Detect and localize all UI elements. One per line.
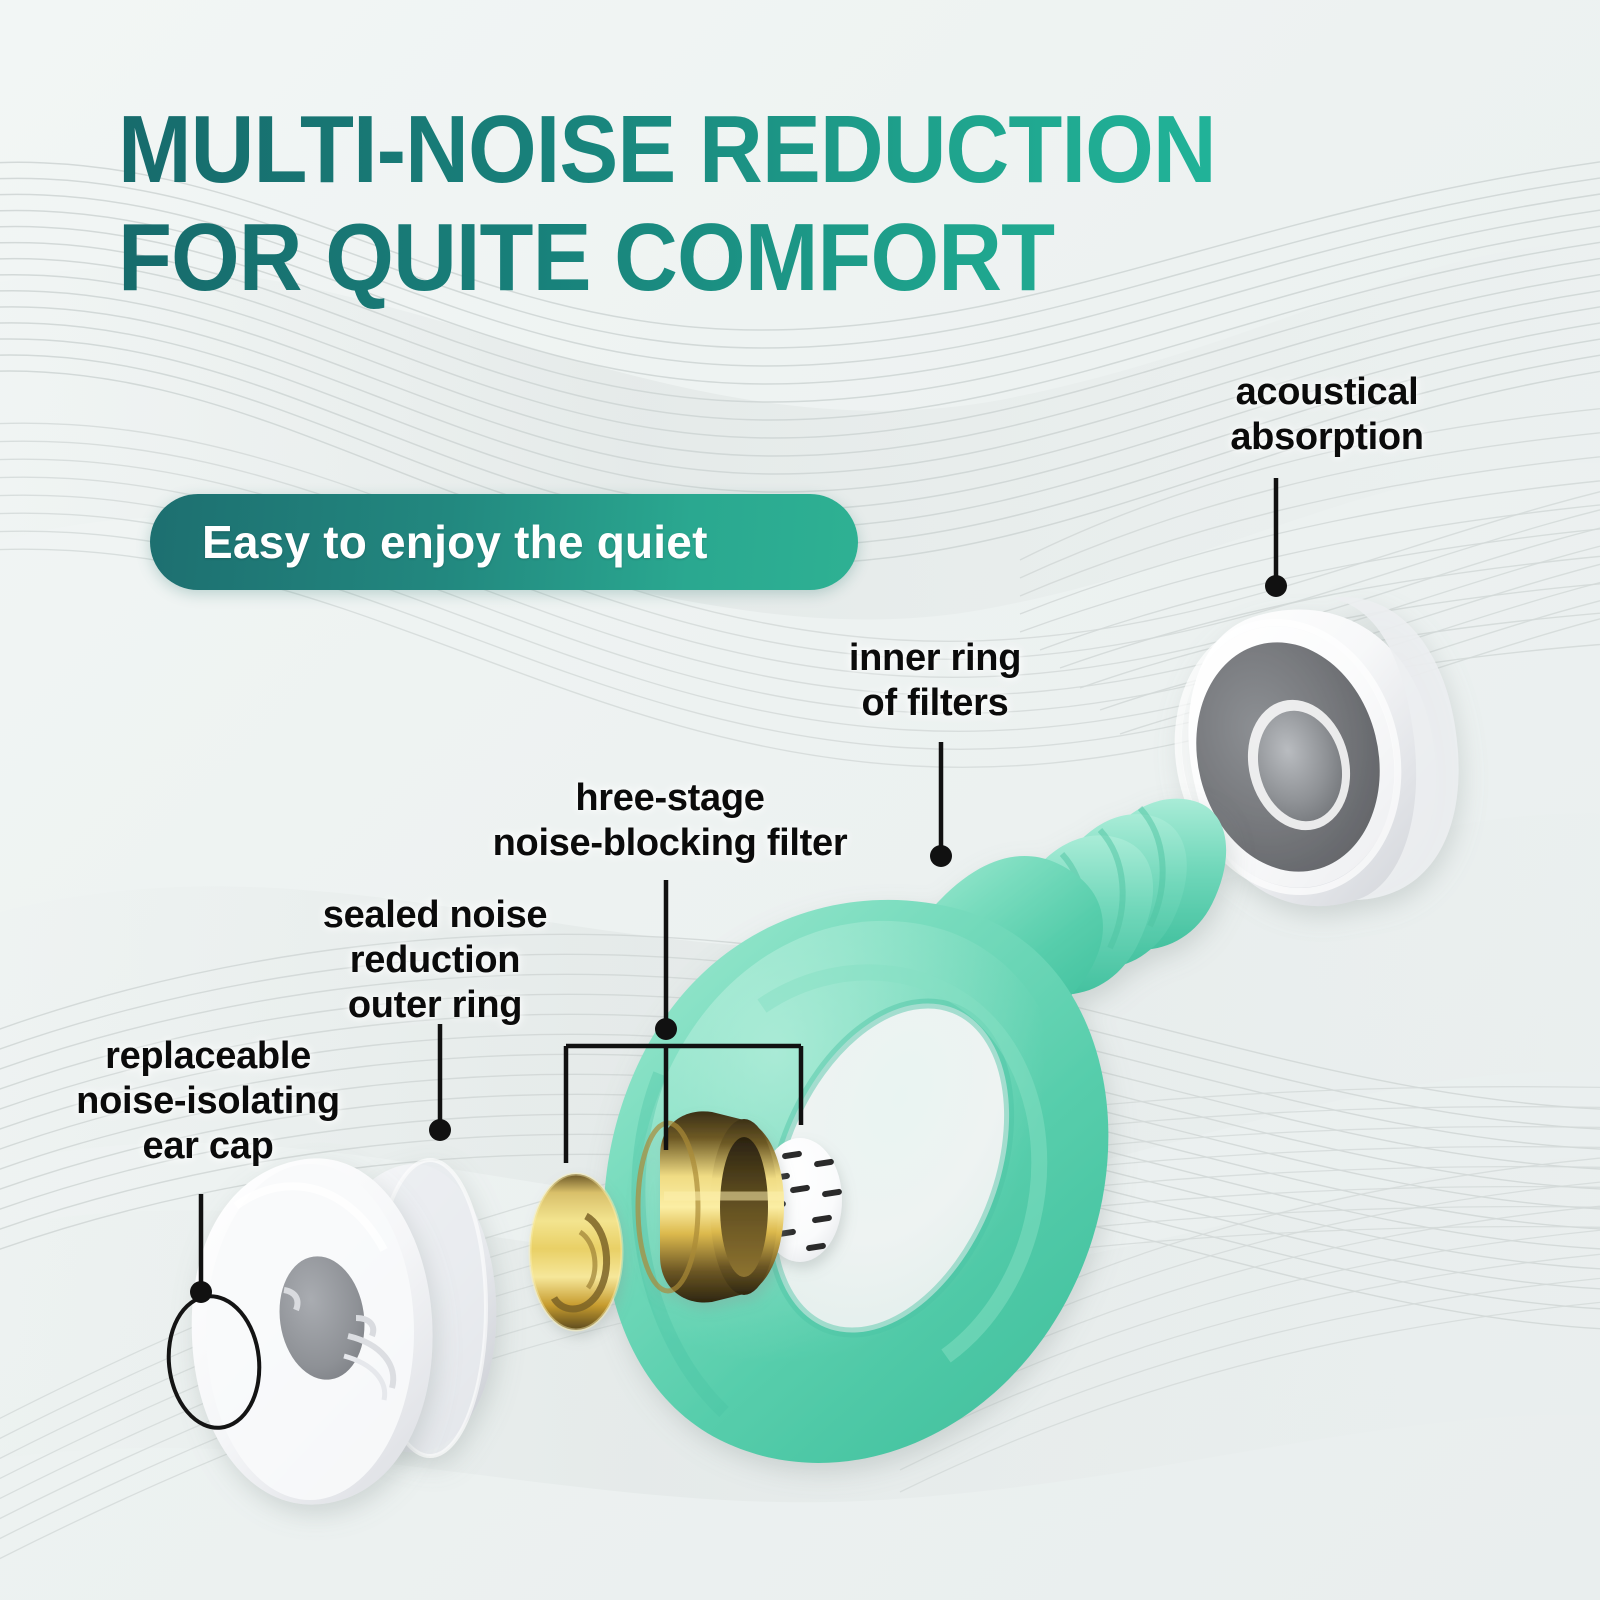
ear-cap-front-body: [192, 1158, 433, 1504]
silicone-torus: [604, 900, 1109, 1463]
part-ear-cap-front: [192, 1158, 433, 1504]
tagline-badge-label: Easy to enjoy the quiet: [202, 515, 708, 569]
part-filter-mesh-disc: [758, 1138, 842, 1262]
leader-dot-three-stage: [655, 1018, 677, 1040]
mesh-slots: [766, 1150, 843, 1251]
leader-dot-inner-ring: [930, 845, 952, 867]
part-filter-gold-ring: [638, 1111, 784, 1302]
leader-dot-sealed: [429, 1119, 451, 1141]
silicone-bore: [725, 968, 1054, 1368]
part-filter-gold-disc: [530, 1174, 622, 1330]
ear-cap-outline: [162, 1292, 265, 1433]
gold-disc-groove: [554, 1216, 607, 1309]
gold-ring-face: [710, 1119, 778, 1295]
infographic-canvas: MULTI-NOISE REDUCTION FOR QUITE COMFORT …: [0, 0, 1600, 1600]
ear-tip-bore: [1247, 702, 1354, 831]
mesh-disc-face: [758, 1138, 842, 1262]
part-ear-cap-back: [330, 1160, 497, 1456]
leader-dot-ear-cap: [190, 1281, 212, 1303]
gold-disc-face: [530, 1174, 622, 1330]
page-title: MULTI-NOISE REDUCTION FOR QUITE COMFORT: [118, 96, 1406, 311]
callout-three-stage-noise-blocking-filter: hree-stage noise-blocking filter: [455, 776, 885, 866]
part-ear-tip-white: [1150, 597, 1458, 915]
ear-tip-funnel: [1173, 623, 1404, 892]
part-silicone-body-mint: [604, 799, 1226, 1463]
callout-replaceable-noise-isolating-ear-cap: replaceable noise-isolating ear cap: [38, 1034, 378, 1168]
callout-sealed-noise-reduction-outer-ring: sealed noise reduction outer ring: [290, 893, 580, 1027]
ear-cap-bore: [272, 1251, 372, 1385]
leader-dot-acoustical: [1265, 575, 1287, 597]
silicone-stem: [1073, 799, 1226, 950]
bg-ribbon-bottom: [0, 1156, 1600, 1502]
callout-inner-ring-of-filters: inner ring of filters: [800, 636, 1070, 726]
bg-fan-lower-right: [900, 1150, 1600, 1492]
tagline-badge: Easy to enjoy the quiet: [150, 494, 858, 590]
callout-acoustical-absorption: acoustical absorption: [1162, 370, 1492, 460]
